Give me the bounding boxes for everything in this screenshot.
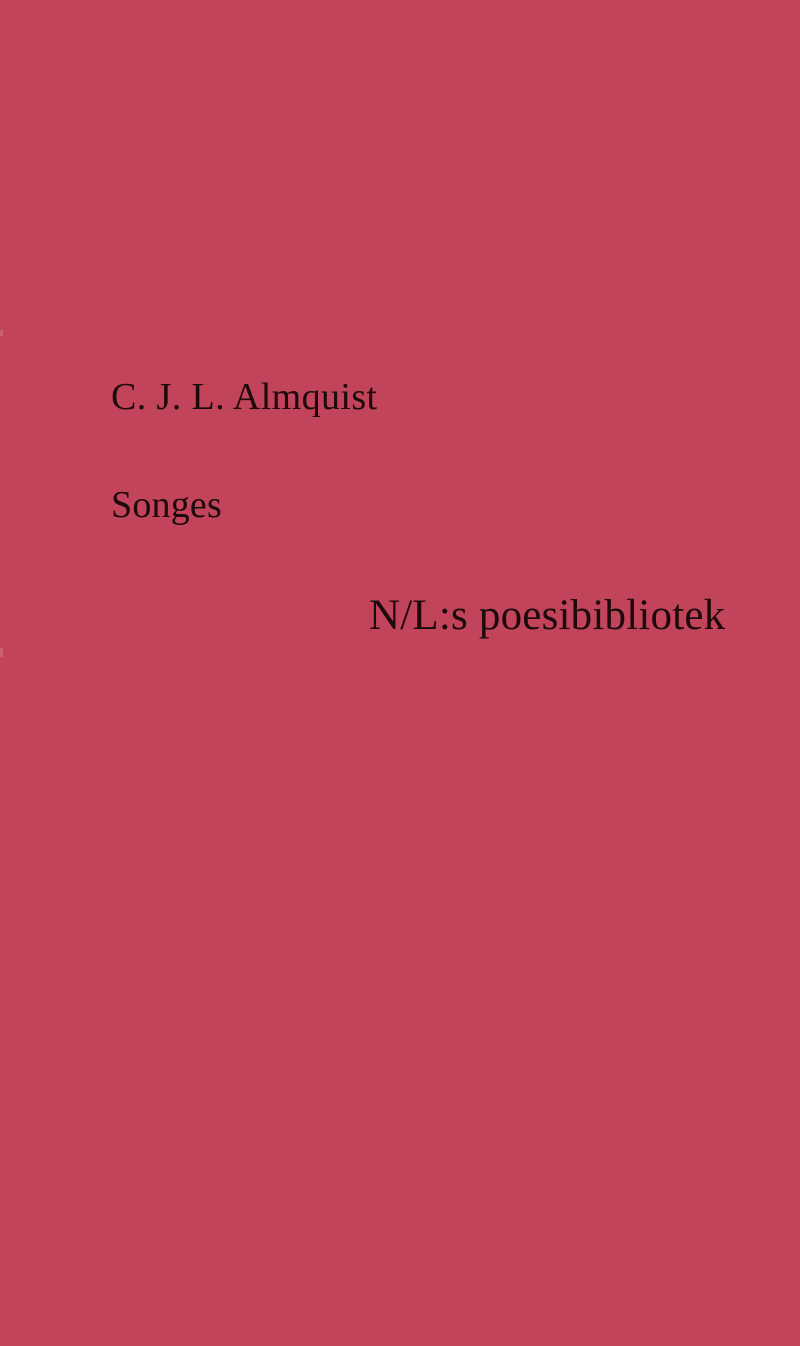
cover-text-block: C. J. L. Almquist Songes N/L:s poesibibl… [0, 0, 800, 1346]
book-cover: C. J. L. Almquist Songes N/L:s poesibibl… [0, 0, 800, 1346]
publisher-imprint: N/L:s poesibibliotek [369, 594, 725, 637]
author-name: C. J. L. Almquist [111, 378, 378, 416]
book-title: Songes [111, 486, 222, 524]
